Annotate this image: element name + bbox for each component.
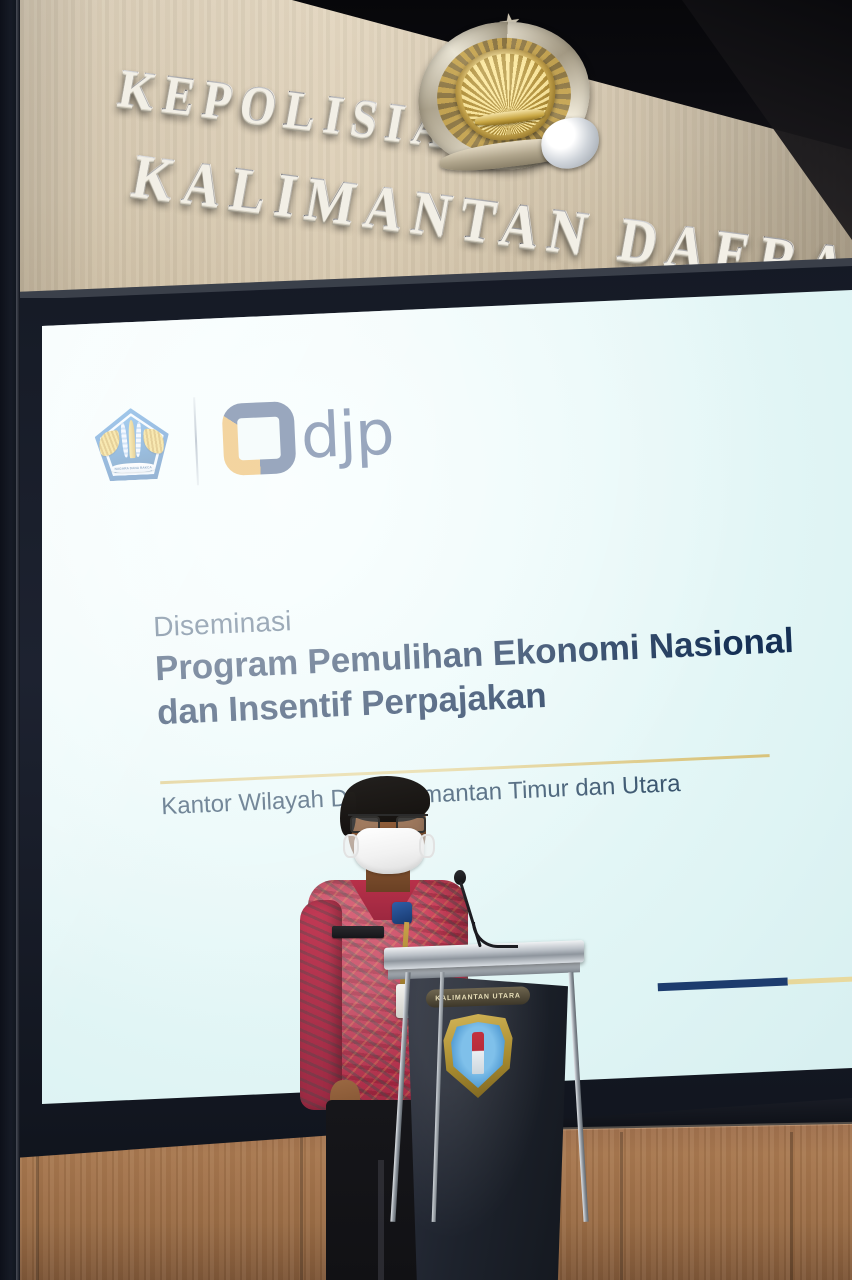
polda-shield-figure	[472, 1032, 484, 1074]
djp-square-mark-icon	[221, 401, 296, 476]
police-tribrata-emblem-icon	[410, 12, 599, 180]
left-door-jamb-highlight	[16, 0, 20, 1280]
presenter-pin-badge	[392, 902, 412, 924]
emblem-rays	[457, 49, 554, 140]
presenter-name-tag	[332, 926, 384, 938]
slide-logo-lockup: NAGARA DANA RAKCA djp	[93, 389, 395, 490]
deco-bar-navy	[658, 978, 788, 992]
gooseneck-microphone-icon	[454, 870, 518, 948]
face-mask-icon	[354, 828, 424, 874]
djp-wordmark: djp	[300, 406, 394, 463]
lectern: KALIMANTAN UTARA	[390, 944, 590, 1280]
djp-logo: djp	[221, 397, 394, 477]
lectern-leg-right	[568, 972, 588, 1222]
logo-divider	[193, 397, 199, 485]
lectern-leg-left	[390, 972, 410, 1222]
slide-eyebrow: Diseminasi	[153, 605, 293, 643]
photo-scene: ★ ★ ★ KEPOLISIAN KALIMANTAN DAERAH UTARA	[0, 0, 852, 1280]
deco-bar-gold	[788, 964, 852, 984]
kemenkeu-pentagon-emblem-icon: NAGARA DANA RAKCA	[94, 407, 171, 482]
slide-decorative-bar	[658, 962, 852, 991]
wood-panel-seam	[790, 1132, 793, 1280]
lectern-banner-text: KALIMANTAN UTARA	[435, 992, 521, 1002]
emblem-motto-text: NAGARA DANA RAKCA	[111, 465, 156, 471]
wood-panel-seam	[620, 1132, 623, 1280]
